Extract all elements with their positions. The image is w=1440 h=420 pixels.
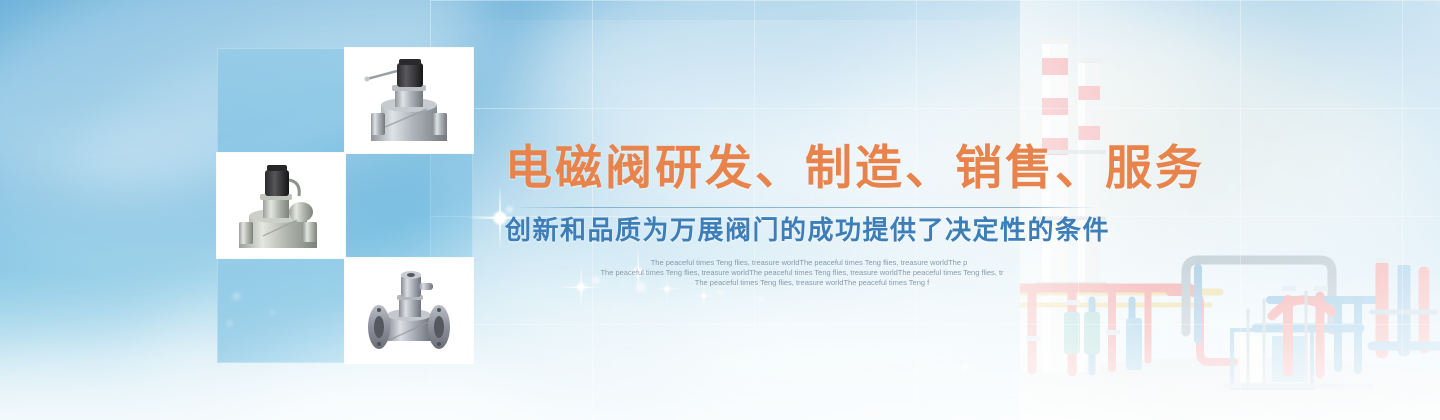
hero-banner: 电磁阀研发、制造、销售、服务 创新和品质为万展阀门的成功提供了决定性的条件 Th… bbox=[0, 0, 1440, 420]
accent-tile-blue bbox=[217, 258, 345, 363]
micro-copy-line: The peaceful times Teng flies, treasure … bbox=[513, 258, 1105, 268]
micro-copy-line: The peaceful times Teng flies, treasure … bbox=[519, 278, 1105, 288]
page-title: 电磁阀研发、制造、销售、服务 bbox=[505, 140, 1105, 198]
product-tile-solenoid-valve-flanged[interactable] bbox=[345, 258, 473, 363]
divider bbox=[513, 207, 1097, 208]
micro-copy: The peaceful times Teng flies, treasure … bbox=[505, 258, 1105, 288]
page-subtitle: 创新和品质为万展阀门的成功提供了决定性的条件 bbox=[505, 214, 1105, 248]
accent-tile-blue bbox=[217, 48, 345, 153]
headline-block: 电磁阀研发、制造、销售、服务 创新和品质为万展阀门的成功提供了决定性的条件 Th… bbox=[505, 140, 1105, 288]
micro-copy-line: The peaceful times Teng flies, treasure … bbox=[499, 268, 1105, 278]
accent-tile-blue bbox=[345, 153, 473, 258]
product-tile-solenoid-valve-threaded-left[interactable] bbox=[217, 153, 345, 258]
product-tile-solenoid-valve-threaded-top[interactable] bbox=[345, 48, 473, 153]
